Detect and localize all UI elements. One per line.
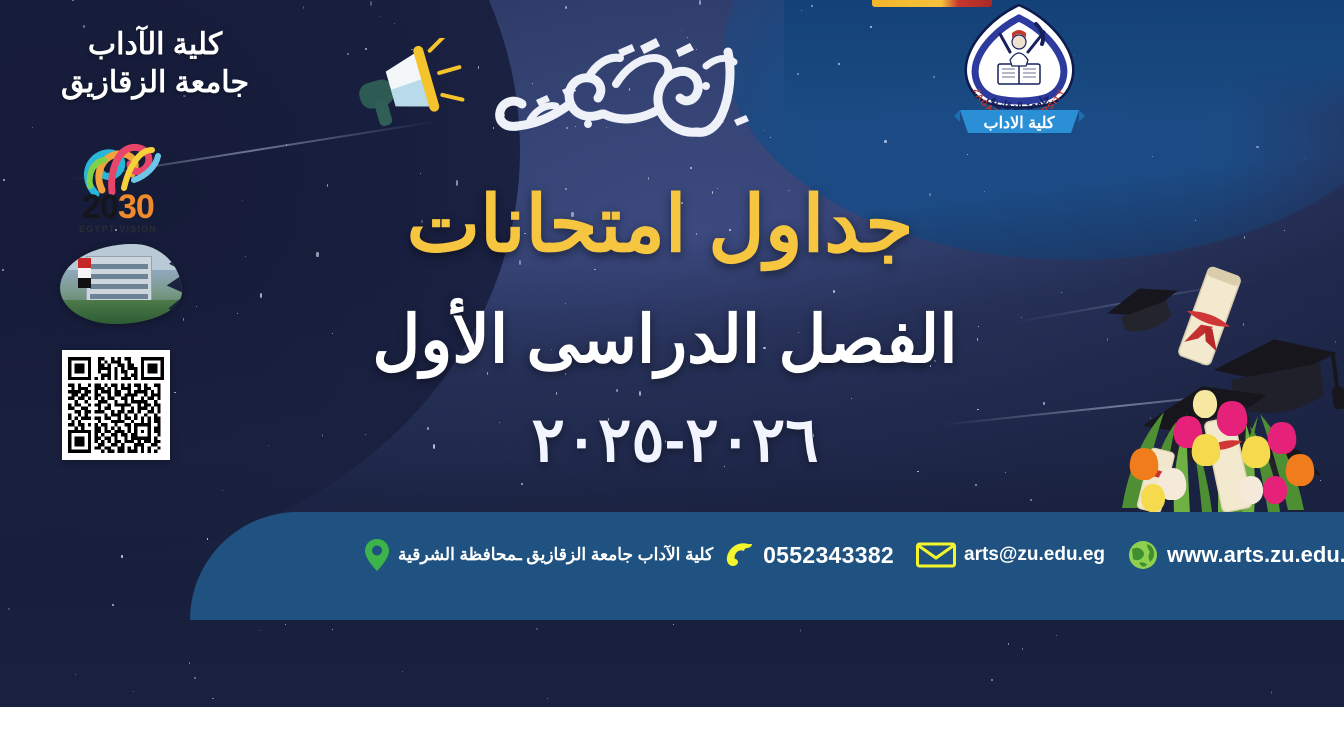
- graduation-cap-icon: [1103, 277, 1186, 340]
- building-window-row: [90, 274, 148, 279]
- contact-website-url: www.arts.zu.edu.eg: [1167, 542, 1344, 568]
- megaphone-icon: [348, 38, 468, 130]
- faculty-name-line1: كلية الآداب: [0, 26, 310, 64]
- announcement-poster: كلية الآداب جامعة الزقازيق 2030 EGYPT VI…: [0, 0, 1344, 707]
- building-window-row: [90, 284, 148, 289]
- zagazig-university-seal: جامعة الزقازيق ZAGAZIG UNIVERSITY كلية ا…: [952, 2, 1087, 142]
- faculty-building-photo: [60, 244, 182, 324]
- building-window-row: [90, 264, 148, 269]
- poster-title-primary: جداول امتحانات: [280, 184, 1040, 266]
- contact-email-address: arts@zu.edu.eg: [964, 544, 1105, 566]
- vision-year-left: 20: [82, 188, 118, 226]
- contact-website[interactable]: www.arts.zu.edu.eg: [1127, 539, 1344, 571]
- contact-phone-number: 0552343382: [763, 542, 894, 569]
- qr-code-block[interactable]: [62, 350, 170, 460]
- poster-title-year: ٢٠٢٦-٢٠٢٥: [330, 410, 1020, 472]
- vision-subtitle: EGYPT VISION: [62, 224, 174, 234]
- poster-title-secondary: الفصل الدراسى الأول: [270, 305, 1060, 374]
- vision-year-right: 30: [118, 188, 154, 226]
- location-pin-icon: [364, 538, 390, 572]
- diploma-scroll-icon: [1172, 264, 1247, 368]
- phone-icon: [723, 541, 755, 569]
- graduation-decoration: [1082, 258, 1344, 520]
- faculty-name-line2: جامعة الزقازيق: [0, 64, 310, 102]
- envelope-icon: [916, 541, 956, 569]
- svg-text:كلية الاداب: كلية الاداب: [984, 115, 1055, 132]
- contact-address: كلية الآداب جامعة الزقازيق ـمحافظة الشرق…: [398, 545, 713, 565]
- contact-location[interactable]: كلية الآداب جامعة الزقازيق ـمحافظة الشرق…: [364, 538, 713, 572]
- building-window-row: [90, 294, 148, 299]
- qr-code-icon[interactable]: [68, 356, 164, 454]
- building-foliage: [60, 300, 182, 324]
- globe-icon: [1127, 539, 1159, 571]
- egypt-vision-2030-logo: 2030 EGYPT VISION: [62, 136, 174, 248]
- contact-email[interactable]: arts@zu.edu.eg: [916, 541, 1105, 569]
- faculty-name-block: كلية الآداب جامعة الزقازيق: [0, 26, 310, 103]
- egypt-flag: [78, 258, 91, 288]
- vision-year-number: 2030: [62, 190, 174, 224]
- calligraphy-important-announcement: [470, 28, 770, 158]
- contact-phone[interactable]: 0552343382: [723, 541, 894, 569]
- contact-info-row: كلية الآداب جامعة الزقازيق ـمحافظة الشرق…: [350, 512, 1344, 598]
